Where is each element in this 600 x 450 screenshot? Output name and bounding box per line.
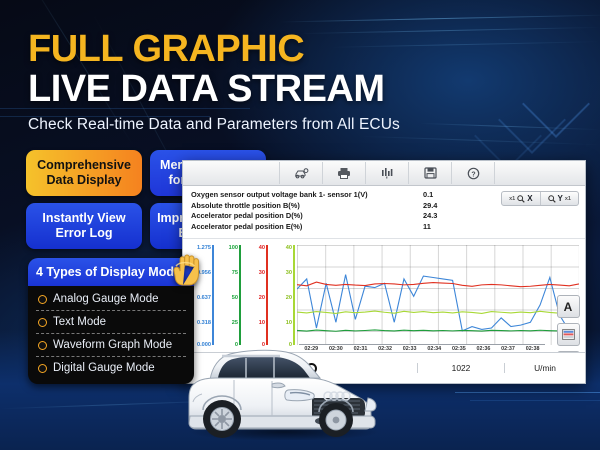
bullet-dot-icon [38,295,47,304]
headline-block: FULL GRAPHIC LIVE DATA STREAM Check Real… [28,28,488,134]
bullet-dot-icon [38,318,47,327]
y-tick: 1.275 [197,245,211,251]
feature-pill-comprehensive-data-display[interactable]: Comprehensive Data Display [26,150,142,196]
parameter-value: 0.1 [423,190,469,201]
status-value: 1022 [417,363,504,373]
feature-pill-line-2: Error Log [32,226,136,241]
promo-banner: FULL GRAPHIC LIVE DATA STREAM Check Real… [0,0,600,450]
list-rows-icon[interactable] [557,323,580,346]
display-mode-item-analog-gauge[interactable]: Analog Gauge Mode [36,288,186,311]
display-mode-label: Waveform Graph Mode [53,339,172,351]
zoom-x-factor: x1 [509,196,515,202]
save-floppy-icon[interactable] [409,162,452,184]
parameter-row[interactable]: Accelerator pedal position D(%) 24.3 [191,211,585,222]
feature-pill-instantly-view-error-log[interactable]: Instantly View Error Log [26,203,142,249]
y-tick: 40 [286,245,292,251]
text-a-icon[interactable]: A [557,295,580,318]
display-mode-label: Analog Gauge Mode [53,293,159,305]
bullet-dot-icon [38,364,47,373]
display-mode-item-text[interactable]: Text Mode [36,311,186,334]
app-toolbar: ? [183,161,585,186]
help-question-icon[interactable]: ? [452,162,495,184]
y-tick: 75 [232,270,238,276]
y-tick: 0.318 [197,320,211,326]
y-tick: 30 [259,270,265,276]
display-mode-item-digital-gauge[interactable]: Digital Gauge Mode [36,357,186,379]
y-tick: 0.637 [197,295,211,301]
y-tick: 50 [232,295,238,301]
parameter-value: 11 [423,222,469,233]
zoom-y-button[interactable]: Y x1 [541,192,578,205]
zoom-x-label: X [527,194,532,203]
parameter-value: 24.3 [423,211,469,222]
status-unit: U/min [504,363,585,373]
decorative-line [455,392,600,393]
chart-traces [297,245,579,345]
zoom-y-factor: x1 [565,196,571,202]
parameter-value: 29.4 [423,201,469,212]
display-mode-list: Analog Gauge Mode Text Mode Waveform Gra… [28,286,194,384]
zoom-controls: x1 X Y x1 [501,191,579,206]
pointing-hand-icon [172,252,202,293]
y-tick: 30 [286,270,292,276]
display-mode-label: Digital Gauge Mode [53,362,155,374]
feature-pill-line-1: Instantly View [32,211,136,226]
car-image [176,336,388,440]
printer-icon[interactable] [323,162,366,184]
svg-text:?: ? [471,171,475,178]
parameter-name: Accelerator pedal position D(%) [191,211,423,222]
display-mode-title: 4 Types of Display Mode [28,258,194,286]
headline-subtitle: Check Real-time Data and Parameters from… [28,116,488,134]
car-settings-icon[interactable] [279,162,323,184]
display-mode-card: 4 Types of Display Mode Analog Gauge Mod… [28,258,194,384]
parameter-name: Accelerator pedal position E(%) [191,222,423,233]
zoom-y-label: Y [558,194,563,203]
y-tick: 10 [259,320,265,326]
chart-bars-icon[interactable] [366,162,409,184]
headline-line-2: LIVE DATA STREAM [28,68,488,110]
zoom-x-button[interactable]: x1 X [502,192,540,205]
parameter-row[interactable]: Accelerator pedal position E(%) 11 [191,222,585,233]
y-tick: 40 [259,245,265,251]
decorative-line [470,400,600,401]
headline-line-1: FULL GRAPHIC [28,28,488,70]
magnifier-icon [517,195,525,203]
parameter-name: Absolute throttle position B(%) [191,201,423,212]
feature-pill-line-2: Data Display [32,173,136,188]
display-mode-item-waveform-graph[interactable]: Waveform Graph Mode [36,334,186,357]
chart-plot-area[interactable] [297,245,579,345]
feature-pill-line-1: Comprehensive [32,158,136,173]
y-tick: 25 [232,320,238,326]
text-a-glyph: A [564,300,573,314]
y-tick: 100 [229,245,238,251]
bullet-dot-icon [38,341,47,350]
display-mode-label: Text Mode [53,316,106,328]
parameter-list: Oxygen sensor output voltage bank 1- sen… [183,186,585,238]
parameter-name: Oxygen sensor output voltage bank 1- sen… [191,190,423,201]
y-tick: 20 [286,295,292,301]
y-tick: 20 [259,295,265,301]
magnifier-icon [548,195,556,203]
y-tick: 10 [286,320,292,326]
